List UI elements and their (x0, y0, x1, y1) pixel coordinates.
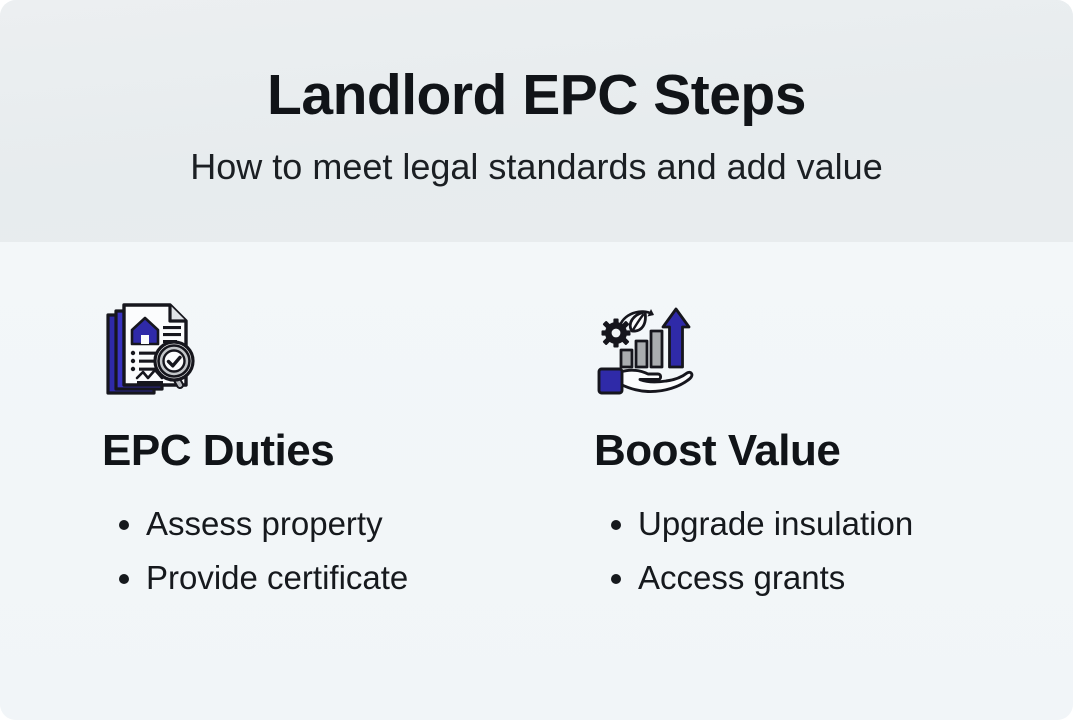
bullet-list-boost-value: Upgrade insulation Access grants (594, 497, 1073, 604)
section-boost-value: Boost Value Upgrade insulation Access gr… (0, 242, 1073, 604)
infographic-canvas: Landlord EPC Steps How to meet legal sta… (0, 0, 1073, 720)
page-subtitle: How to meet legal standards and add valu… (190, 146, 882, 187)
section-title-boost-value: Boost Value (594, 427, 1073, 475)
body-area: EPC Duties Assess property Provide certi… (0, 242, 1073, 720)
list-item: Access grants (594, 551, 1073, 604)
list-item: Upgrade insulation (594, 497, 1073, 550)
hand-growth-chart-arrow-icon (594, 299, 694, 399)
header-band: Landlord EPC Steps How to meet legal sta… (0, 0, 1073, 242)
page-title: Landlord EPC Steps (267, 66, 806, 126)
